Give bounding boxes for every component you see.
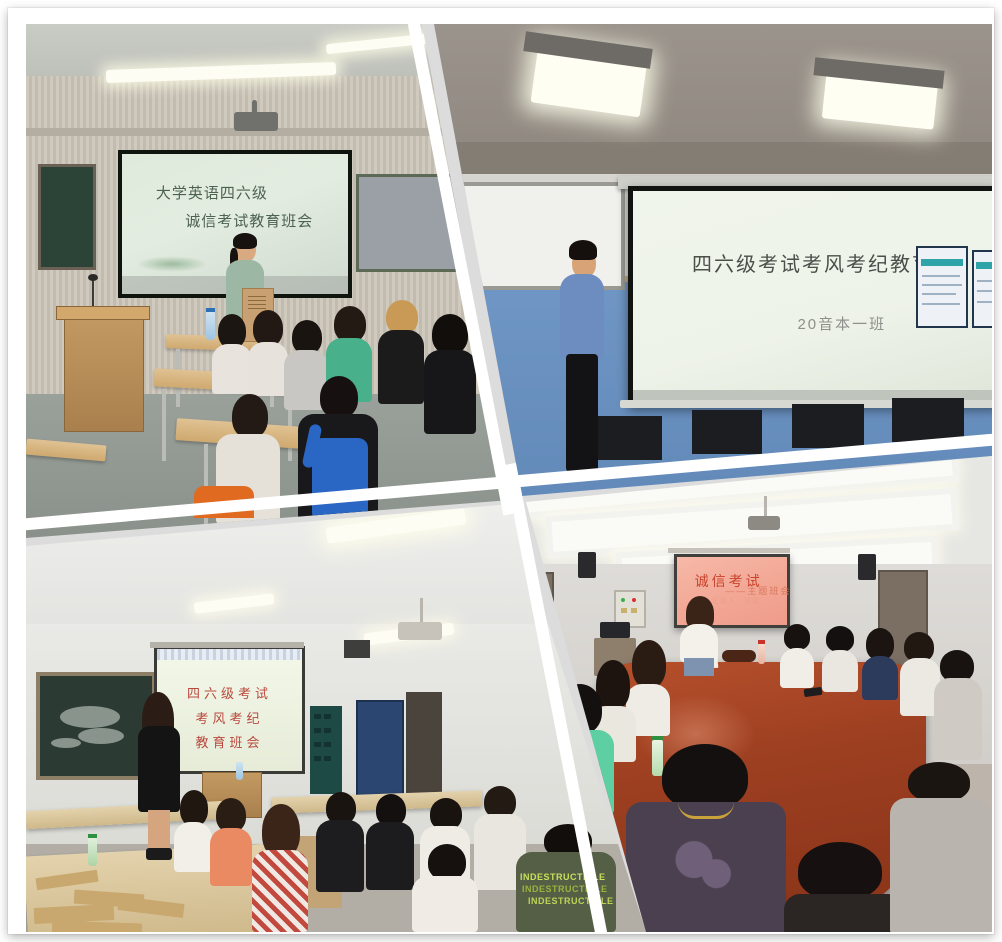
student-shirt	[316, 820, 364, 892]
bottle-cap	[206, 308, 215, 312]
screen-decoration	[136, 256, 208, 272]
attendee	[934, 650, 982, 760]
student	[248, 310, 288, 396]
wall-cabinet	[892, 398, 964, 442]
student-hair	[432, 314, 468, 354]
blue-door[interactable]	[356, 700, 404, 800]
side-chalkboard	[38, 164, 96, 270]
screen-roller	[150, 642, 304, 648]
presenter-skirt	[684, 658, 714, 676]
locker-cell	[314, 714, 321, 719]
poster-line	[922, 293, 957, 295]
locker-unit	[310, 706, 342, 794]
student	[210, 798, 252, 886]
presenter-shirt	[560, 274, 604, 358]
student	[174, 790, 212, 872]
panel-button[interactable]	[621, 608, 627, 613]
bottle-cap	[88, 834, 97, 838]
presenter-shoes	[146, 848, 172, 860]
student-hair	[320, 376, 358, 418]
attendee-hair	[784, 624, 810, 650]
student	[252, 804, 308, 932]
attendee	[780, 624, 814, 688]
doorway	[406, 692, 442, 800]
wall-poster	[916, 246, 968, 328]
necklace	[678, 802, 734, 819]
chalk-mark	[60, 706, 120, 728]
locker-cell	[314, 728, 321, 733]
student-hair	[216, 798, 246, 832]
poster-line	[922, 275, 960, 277]
attendee-shirt	[862, 656, 898, 700]
microphone-head	[88, 274, 98, 281]
bottle-cap	[652, 736, 663, 740]
poster-header-bar	[976, 262, 992, 269]
student-shirt	[412, 876, 478, 932]
student-shirt	[212, 344, 252, 394]
attendee-foreground	[626, 744, 786, 932]
monitor	[600, 622, 630, 638]
shirt-graphic	[666, 834, 736, 898]
student-shirt	[174, 822, 212, 872]
screen-subtitle: 20音本一班	[797, 313, 886, 334]
locker-cell	[324, 756, 331, 761]
water-bottle	[236, 762, 243, 780]
attendee-foreground	[784, 842, 904, 932]
attendee-shirt	[890, 798, 992, 932]
projector-rod	[764, 496, 767, 518]
projector	[234, 112, 278, 131]
screen-title: 四六级考试考风考纪教育	[692, 248, 934, 277]
attendee-shirt	[934, 678, 982, 760]
chair-back	[722, 650, 756, 662]
attendee-foreground	[890, 762, 992, 932]
student	[412, 844, 478, 932]
attendee	[822, 626, 858, 692]
screen-roller	[668, 548, 790, 553]
student-shirt	[252, 850, 308, 932]
attendee-shirt	[822, 650, 858, 692]
attendee	[862, 628, 898, 700]
wall-speaker	[344, 640, 370, 658]
backpack	[312, 438, 368, 522]
projector	[398, 622, 442, 640]
wall-cabinet	[692, 410, 762, 454]
wall-poster	[972, 250, 992, 328]
screen-subtitle: ——主题班会	[725, 584, 791, 597]
student-hair	[180, 790, 208, 826]
locker-cell	[324, 714, 331, 719]
water-bottle	[88, 838, 97, 866]
collage-white-frame: 大学英语四六级 诚信考试教育班会	[8, 8, 994, 934]
ceiling-beam	[406, 142, 992, 176]
chalk-mark	[51, 738, 81, 748]
attendee-hair	[632, 640, 666, 688]
panel-light	[621, 598, 625, 602]
poster-header-bar	[921, 259, 963, 266]
presenter-pants	[566, 354, 598, 472]
desk-leg	[162, 389, 166, 461]
attendee-shirt	[780, 648, 814, 688]
student-hair	[334, 306, 366, 342]
student-shirt	[378, 330, 424, 404]
locker-cell	[314, 742, 321, 747]
projector-rod	[420, 598, 423, 624]
presenter-legs	[148, 810, 170, 852]
student-hair	[292, 320, 322, 354]
wall-speaker	[858, 554, 876, 580]
presenter	[678, 596, 720, 676]
plywood-piece	[52, 920, 142, 932]
locker-cell	[324, 742, 331, 747]
wall-speaker	[578, 552, 596, 578]
panel-button[interactable]	[631, 608, 637, 613]
student-hair	[218, 314, 246, 348]
document-ruler	[157, 649, 302, 660]
screen-line-2: 诚信考试教育班会	[185, 210, 313, 231]
poster-line	[977, 290, 992, 292]
water-bottle	[758, 644, 765, 664]
poster-line	[922, 303, 960, 305]
presenter-shirt	[680, 624, 718, 662]
student	[378, 300, 424, 404]
panel-light	[632, 598, 636, 602]
poster-line	[922, 284, 962, 286]
bottle-cap	[758, 640, 765, 644]
student	[316, 792, 364, 892]
projector	[748, 516, 780, 530]
screen-line-1: 大学英语四六级	[156, 182, 268, 203]
poster-line	[977, 301, 992, 303]
wall-cabinet	[792, 404, 864, 448]
student-shirt	[248, 342, 288, 396]
locker-cell	[324, 728, 331, 733]
student	[366, 794, 414, 890]
student-shirt	[210, 828, 252, 886]
attendee-shirt	[784, 894, 904, 932]
presenter-hair	[569, 240, 597, 260]
student-shirt	[424, 350, 476, 434]
attendee-hair	[826, 626, 854, 652]
projector-mount	[252, 100, 257, 114]
collage-canvas: 大学英语四六级 诚信考试教育班会	[26, 24, 992, 932]
student-hair	[253, 310, 283, 346]
student	[212, 314, 252, 394]
attendee-hair	[908, 762, 970, 802]
student-hair	[386, 300, 418, 334]
podium-top	[56, 306, 150, 320]
student-hair	[428, 844, 466, 880]
chalk-mark	[78, 728, 124, 744]
attendee-hair	[798, 842, 882, 900]
student-hair	[232, 394, 268, 438]
locker-cell	[314, 756, 321, 761]
paper-text	[248, 296, 266, 310]
podium	[64, 312, 144, 432]
student-shirt	[366, 822, 414, 890]
photo-collage: 大学英语四六级 诚信考试教育班会	[0, 0, 1002, 942]
presenter-hair	[233, 233, 257, 249]
attendee-hair	[662, 744, 748, 810]
presenter	[556, 240, 608, 472]
poster-line	[977, 280, 992, 282]
